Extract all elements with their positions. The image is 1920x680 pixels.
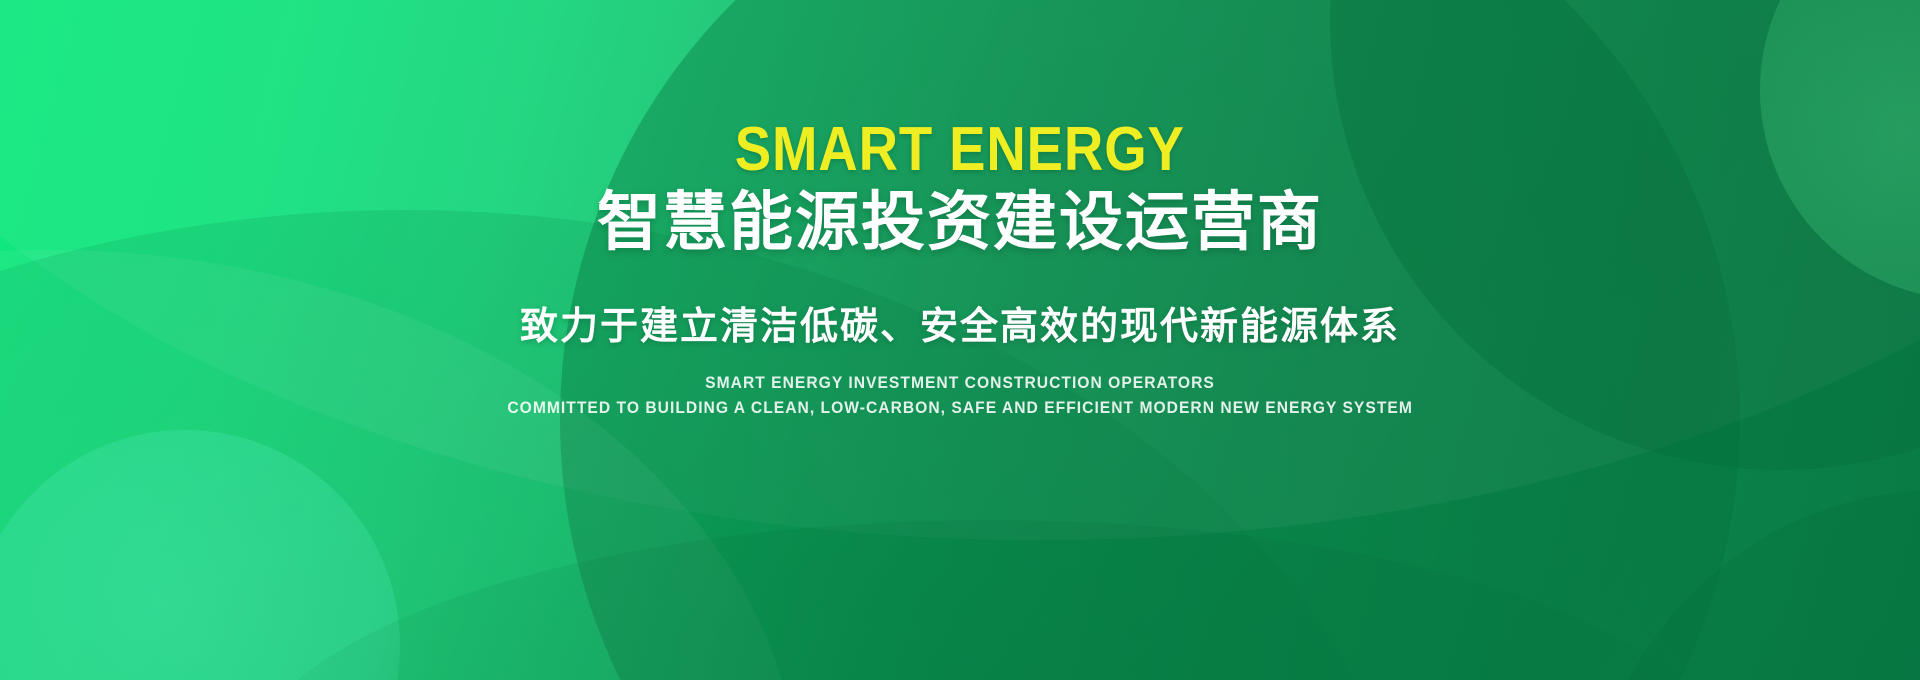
banner-content: SMART ENERGY 智慧能源投资建设运营商 致力于建立清洁低碳、安全高效的… [0,0,1920,680]
banner-tagline-line-1: SMART ENERGY INVESTMENT CONSTRUCTION OPE… [705,373,1215,393]
banner-tagline-block: SMART ENERGY INVESTMENT CONSTRUCTION OPE… [468,373,1452,418]
banner-title-english: SMART ENERGY [735,118,1185,181]
banner-title-chinese: 智慧能源投资建设运营商 [597,187,1323,259]
banner-subtitle-chinese: 致力于建立清洁低碳、安全高效的现代新能源体系 [520,305,1400,351]
banner-tagline-line-2: COMMITTED TO BUILDING A CLEAN, LOW-CARBO… [507,398,1413,418]
hero-banner: SMART ENERGY 智慧能源投资建设运营商 致力于建立清洁低碳、安全高效的… [0,0,1920,680]
